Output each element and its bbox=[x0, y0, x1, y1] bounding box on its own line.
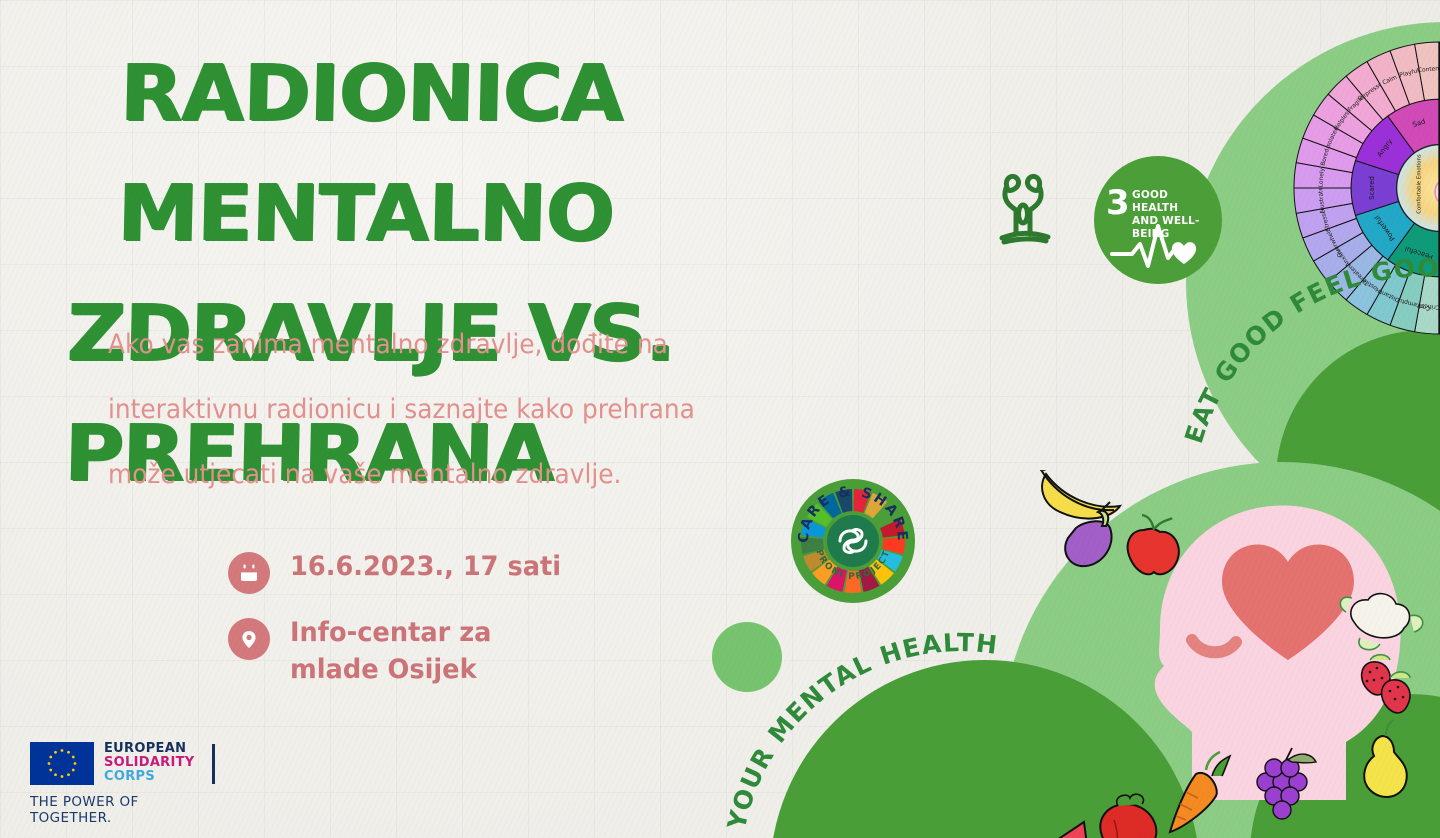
apple-icon bbox=[1128, 515, 1179, 574]
tomato-icon bbox=[1100, 794, 1156, 838]
watermelon-icon bbox=[1040, 822, 1090, 838]
event-date-text: 16.6.2023., 17 sati bbox=[290, 548, 561, 585]
tagline-mental-health-text: YOUR MENTAL HEALTH MATTERS bbox=[716, 590, 1000, 833]
esc-divider bbox=[212, 744, 215, 784]
esc-line-1: EUROPEAN bbox=[104, 742, 195, 756]
esc-line-3: CORPS bbox=[104, 770, 195, 784]
european-solidarity-corps-logo: EUROPEAN SOLIDARITY CORPS THE POWER OF T… bbox=[30, 742, 220, 818]
map-pin-icon bbox=[228, 618, 270, 660]
svg-text:Scared: Scared bbox=[1368, 176, 1376, 200]
head-with-heart-illustration bbox=[1040, 470, 1440, 838]
eu-flag-icon bbox=[30, 742, 94, 785]
svg-text:YOUR MENTAL HEALTH MATTERS: YOUR MENTAL HEALTH MATTERS bbox=[716, 590, 1000, 833]
proni-person-icon bbox=[994, 166, 1056, 246]
event-date-row: 16.6.2023., 17 sati bbox=[228, 548, 575, 594]
svg-text:Comfortable Emotions: Comfortable Emotions bbox=[1416, 154, 1422, 214]
poster-canvas: PlayfulContentJoyfulProudEagerCuriousEne… bbox=[0, 0, 1440, 838]
care-and-share-logo: CARE & SHARE PRONI PROJECT bbox=[790, 478, 916, 604]
pear-icon bbox=[1364, 720, 1407, 797]
tagline-eat-good-text: EAT GOOD FEEL GOOD bbox=[1180, 250, 1440, 447]
svg-text:EAT GOOD FEEL GOOD: EAT GOOD FEEL GOOD bbox=[1180, 250, 1440, 447]
body-line-3: može utjecati na vaše mentalno zdravlje. bbox=[108, 442, 752, 507]
title-line-1: RADIONICA MENTALNO bbox=[69, 34, 1010, 274]
esc-tagline: THE POWER OF TOGETHER. bbox=[30, 794, 220, 826]
tagline-eat-good: EAT GOOD FEEL GOOD bbox=[1180, 250, 1440, 470]
body-line-2: interaktivnu radionicu i saznajte kako p… bbox=[108, 377, 752, 442]
sdg-label-line-1: GOOD HEALTH bbox=[1132, 189, 1178, 214]
esc-line-2: SOLIDARITY bbox=[104, 756, 195, 770]
poster-body-text: Ako vas zanima mentalno zdravlje, dođite… bbox=[108, 312, 752, 507]
tagline-mental-health: YOUR MENTAL HEALTH MATTERS bbox=[716, 590, 1016, 838]
event-location-row: Info-centar za mlade Osijek bbox=[228, 614, 502, 688]
event-location-text: Info-centar za mlade Osijek bbox=[290, 614, 491, 688]
esc-wordmark: EUROPEAN SOLIDARITY CORPS bbox=[104, 742, 195, 784]
calendar-icon bbox=[228, 552, 270, 594]
body-line-1: Ako vas zanima mentalno zdravlje, dođite… bbox=[108, 312, 752, 377]
banana-icon bbox=[1040, 470, 1120, 519]
sdg-number: 3 bbox=[1106, 186, 1130, 220]
